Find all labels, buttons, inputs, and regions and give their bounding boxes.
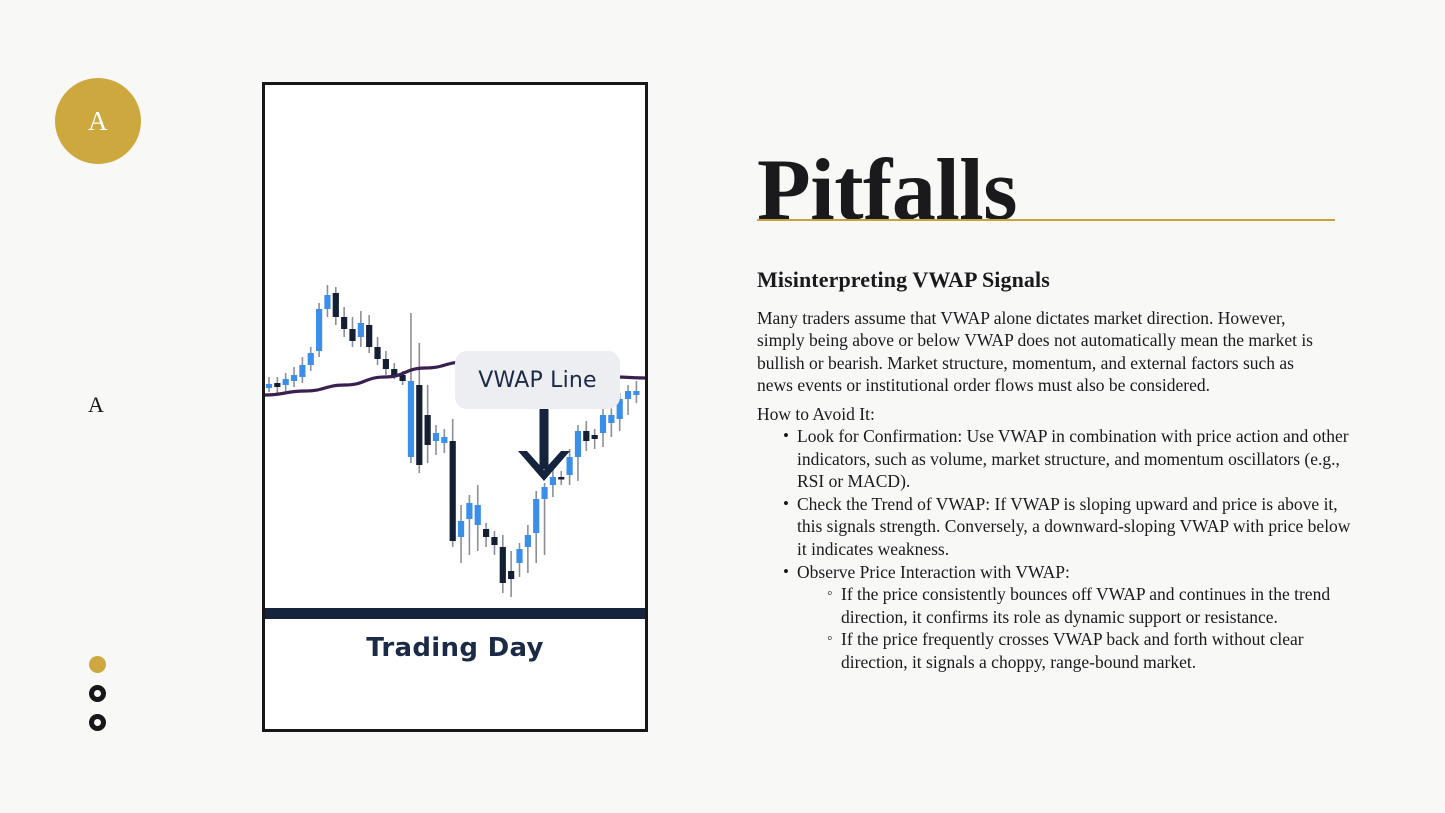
candle-body bbox=[575, 431, 581, 457]
candle-body bbox=[408, 381, 414, 457]
candle-body bbox=[308, 353, 314, 365]
candle-body bbox=[266, 384, 272, 388]
page-title: Pitfalls bbox=[757, 147, 1017, 235]
title-divider-rule bbox=[757, 219, 1335, 221]
advice-bullet-item: Check the Trend of VWAP: If VWAP is slop… bbox=[785, 493, 1363, 561]
how-to-avoid-label: How to Avoid It: bbox=[757, 403, 875, 426]
pager-dot-3[interactable] bbox=[89, 714, 106, 731]
advice-sub-list: If the price consistently bounces off VW… bbox=[797, 583, 1363, 673]
candle-body bbox=[299, 365, 305, 377]
brand-badge-letter: A bbox=[88, 108, 108, 135]
candle-body bbox=[516, 549, 522, 563]
candle-body bbox=[349, 329, 355, 341]
body-paragraph: Many traders assume that VWAP alone dict… bbox=[757, 307, 1331, 397]
advice-bullet-list: Look for Confirmation: Use VWAP in combi… bbox=[757, 425, 1363, 674]
candle-body bbox=[583, 431, 589, 441]
candle-body bbox=[475, 505, 481, 525]
candle-body bbox=[608, 415, 614, 423]
candle-body bbox=[541, 487, 547, 499]
candle-body bbox=[358, 323, 364, 337]
candle-body bbox=[508, 571, 514, 579]
candle-body bbox=[533, 499, 539, 533]
candle-body bbox=[341, 317, 347, 329]
candle-body bbox=[525, 535, 531, 547]
advice-bullet-item: Look for Confirmation: Use VWAP in combi… bbox=[785, 425, 1363, 493]
candle-body bbox=[425, 415, 431, 445]
candle-body bbox=[466, 503, 472, 519]
candle-series bbox=[266, 285, 640, 597]
candle-body bbox=[316, 309, 322, 351]
pager-dots bbox=[89, 656, 106, 731]
candle-body bbox=[441, 437, 447, 443]
candle-body bbox=[366, 325, 372, 347]
section-heading: Misinterpreting VWAP Signals bbox=[757, 267, 1050, 293]
advice-sub-item: If the price consistently bounces off VW… bbox=[829, 583, 1363, 628]
side-mark-letter: A bbox=[88, 394, 104, 416]
brand-badge: A bbox=[55, 78, 141, 164]
candle-body bbox=[600, 415, 606, 433]
candle-body bbox=[383, 359, 389, 369]
candle-body bbox=[592, 435, 598, 439]
candlestick-chart bbox=[265, 85, 645, 612]
candle-body bbox=[491, 537, 497, 545]
candle-body bbox=[450, 441, 456, 541]
candle-body bbox=[483, 529, 489, 537]
x-axis-title: Trading Day bbox=[265, 633, 645, 663]
candle-body bbox=[283, 379, 289, 385]
candle-body bbox=[458, 521, 464, 537]
candle-body bbox=[274, 383, 280, 387]
candle-body bbox=[324, 295, 330, 309]
candle-body bbox=[291, 375, 297, 381]
x-axis-bar bbox=[265, 608, 645, 619]
candle-body bbox=[416, 385, 422, 465]
pager-dot-2[interactable] bbox=[89, 685, 106, 702]
candle-body bbox=[333, 293, 339, 317]
advice-bullet-text: Observe Price Interaction with VWAP: bbox=[797, 562, 1070, 582]
candle-body bbox=[433, 433, 439, 441]
candlestick-plot-area bbox=[265, 85, 645, 612]
content-panel: Pitfalls Misinterpreting VWAP Signals Ma… bbox=[757, 0, 1335, 813]
advice-bullet-item: Observe Price Interaction with VWAP:If t… bbox=[785, 561, 1363, 674]
vwap-callout-box: VWAP Line bbox=[455, 351, 620, 409]
advice-sub-item: If the price frequently crosses VWAP bac… bbox=[829, 628, 1363, 673]
candle-body bbox=[633, 391, 639, 395]
chart-card: VWAP Line Trading Day bbox=[262, 82, 648, 732]
advice-bullet-text: Look for Confirmation: Use VWAP in combi… bbox=[797, 426, 1349, 491]
candle-body bbox=[625, 391, 631, 399]
pager-dot-active[interactable] bbox=[89, 656, 106, 673]
candle-body bbox=[500, 547, 506, 583]
advice-bullet-text: Check the Trend of VWAP: If VWAP is slop… bbox=[797, 494, 1350, 559]
candle-body bbox=[374, 347, 380, 359]
vwap-callout-label: VWAP Line bbox=[478, 368, 597, 393]
down-arrow-icon bbox=[513, 407, 575, 485]
left-rail: A A bbox=[0, 0, 200, 813]
